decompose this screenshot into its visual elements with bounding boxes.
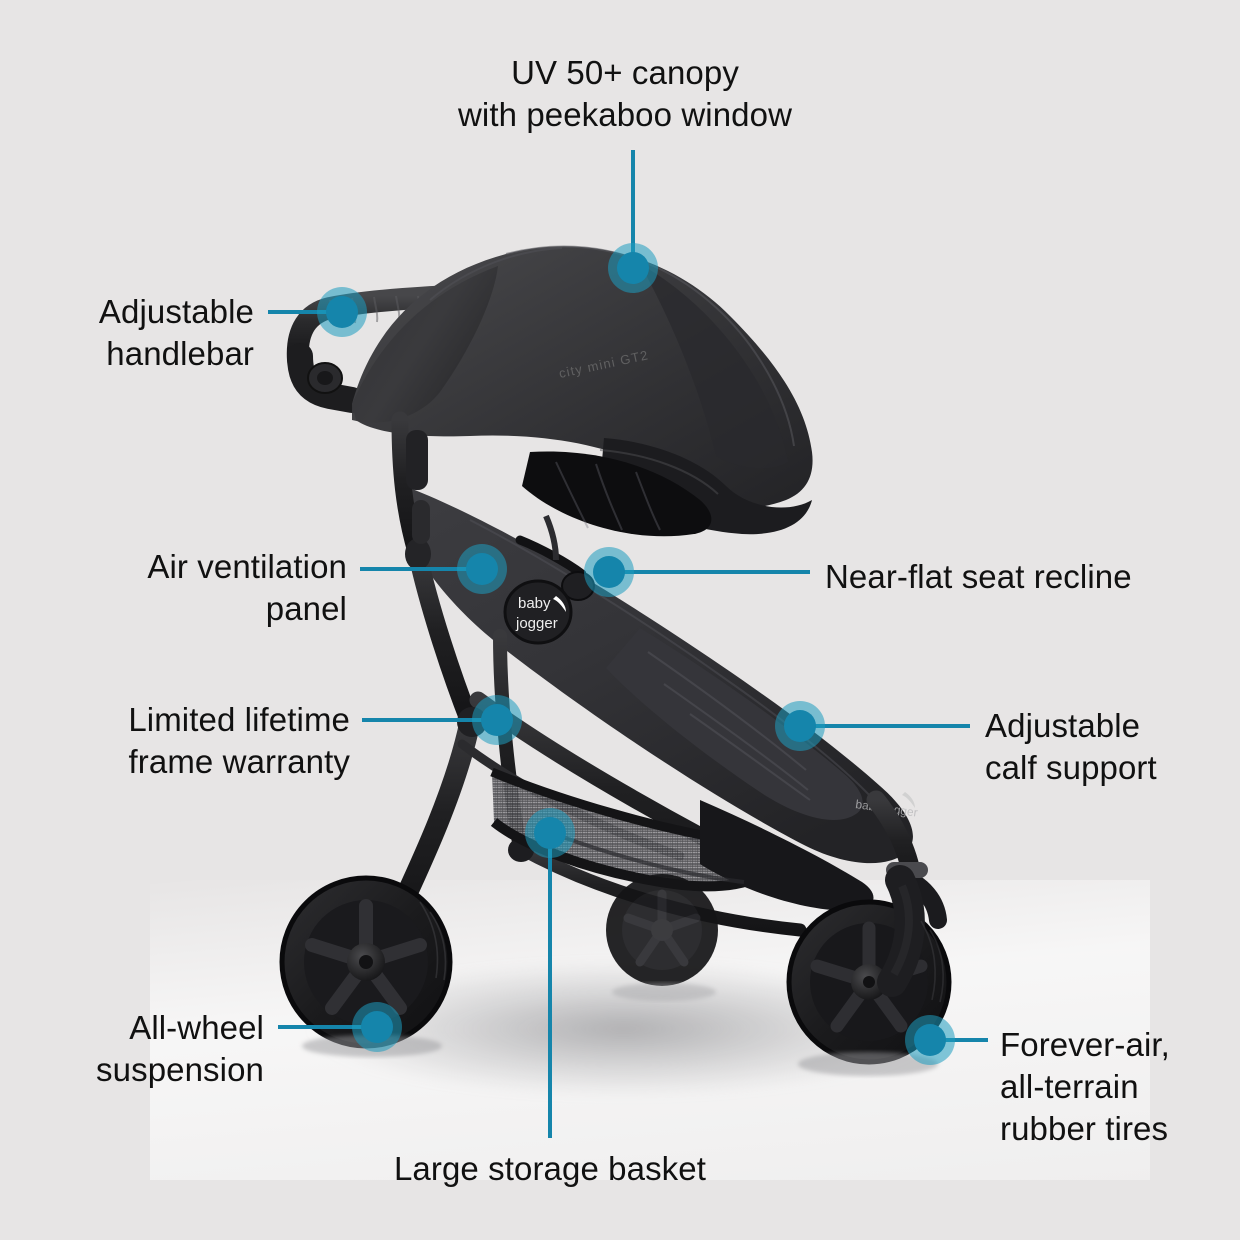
svg-text:jogger: jogger [515,615,558,632]
callout-label-limited-lifetime-frame-warranty: Limited lifetime frame warranty [20,699,350,783]
frame-hub-logo: baby jogger [505,581,571,643]
callout-label-large-storage-basket: Large storage basket [338,1148,762,1190]
callout-label-forever-air-tires: Forever-air, all-terrain rubber tires [1000,1024,1230,1150]
rear-wheel-far-side [606,874,718,986]
callout-label-uv-canopy: UV 50+ canopy with peekaboo window [365,52,885,136]
callout-label-air-ventilation-panel: Air ventilation panel [20,546,347,630]
callout-label-adjustable-handlebar: Adjustable handlebar [20,291,254,375]
svg-text:baby: baby [518,595,551,612]
callout-label-near-flat-seat-recline: Near-flat seat recline [825,556,1225,598]
rear-wheel [282,878,450,1046]
infographic-canvas: city mini GT2 baby jogger [0,0,1240,1240]
callout-label-adjustable-calf-support: Adjustable calf support [985,705,1230,789]
callout-label-all-wheel-suspension: All-wheel suspension [20,1007,264,1091]
